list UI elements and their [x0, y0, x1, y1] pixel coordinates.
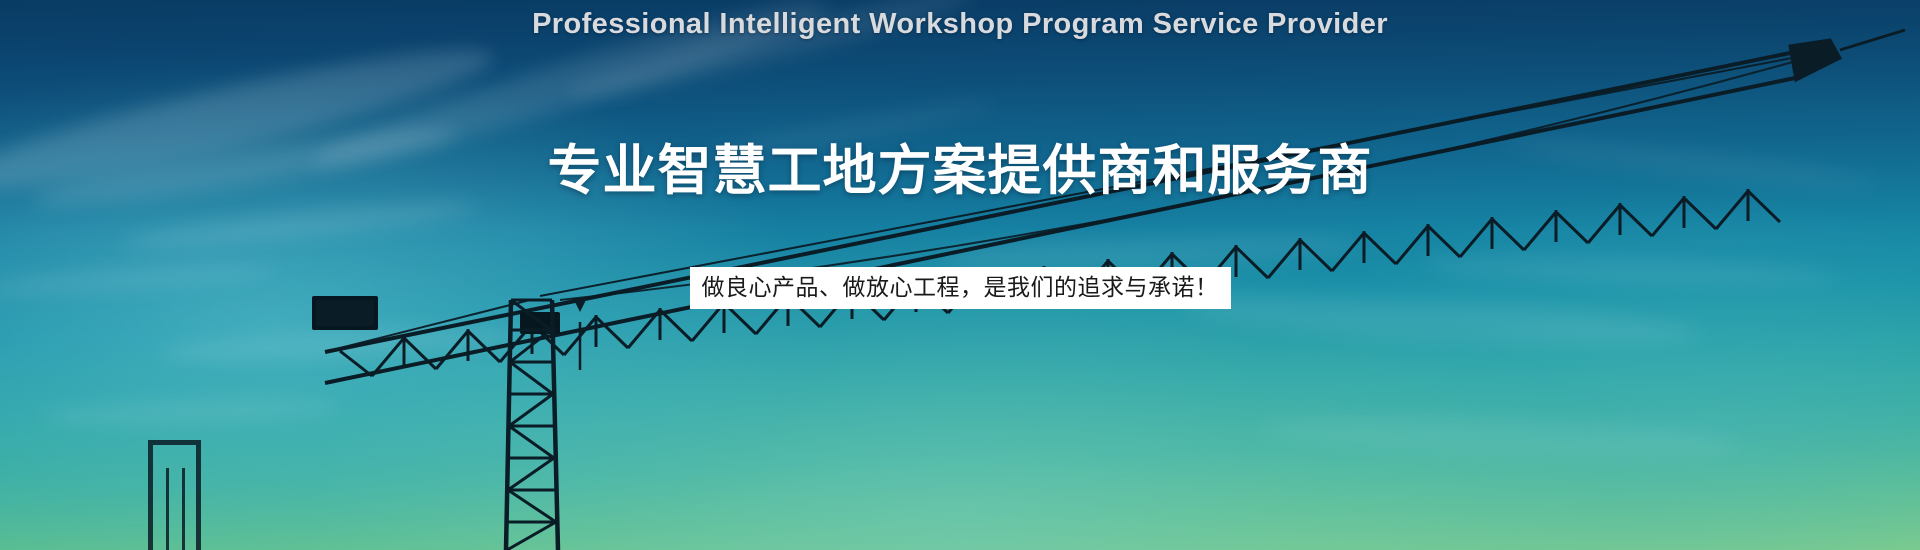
- banner-tagline-container: 做良心产品、做放心工程，是我们的追求与承诺！: [0, 267, 1920, 309]
- banner-content: Professional Intelligent Workshop Progra…: [0, 0, 1920, 550]
- hero-banner: Professional Intelligent Workshop Progra…: [0, 0, 1920, 550]
- banner-tagline: 做良心产品、做放心工程，是我们的追求与承诺！: [690, 267, 1231, 309]
- banner-eyebrow-text: Professional Intelligent Workshop Progra…: [0, 8, 1920, 41]
- banner-headline: 专业智慧工地方案提供商和服务商: [0, 126, 1920, 205]
